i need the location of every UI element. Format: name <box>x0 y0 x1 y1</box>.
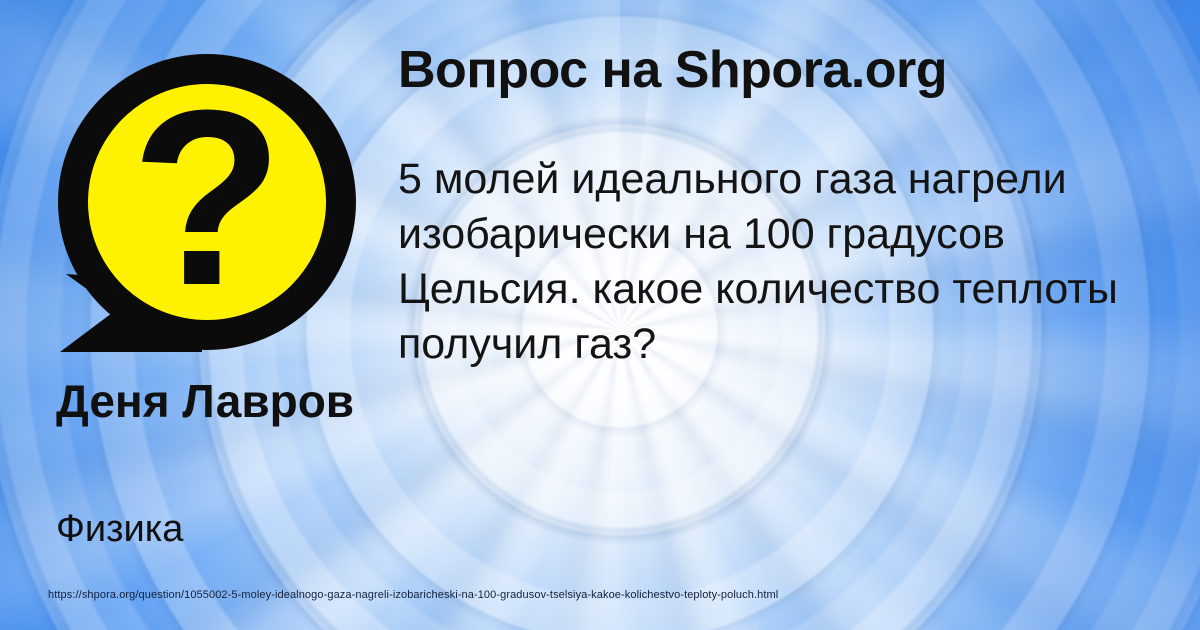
author-name: Деня Лавров <box>56 378 386 424</box>
question-speech-bubble-icon: ? <box>52 52 362 352</box>
question-mark-glyph: ? <box>131 58 284 337</box>
page-title: Вопрос на Shpora.org <box>398 44 1188 97</box>
share-card: ? Вопрос на Shpora.org 5 молей идеальног… <box>0 0 1200 630</box>
source-url: https://shpora.org/question/1055002-5-mo… <box>48 589 778 601</box>
subject-label: Физика <box>56 508 386 551</box>
question-body-text: 5 молей идеального газа нагрели изобарич… <box>398 152 1166 372</box>
